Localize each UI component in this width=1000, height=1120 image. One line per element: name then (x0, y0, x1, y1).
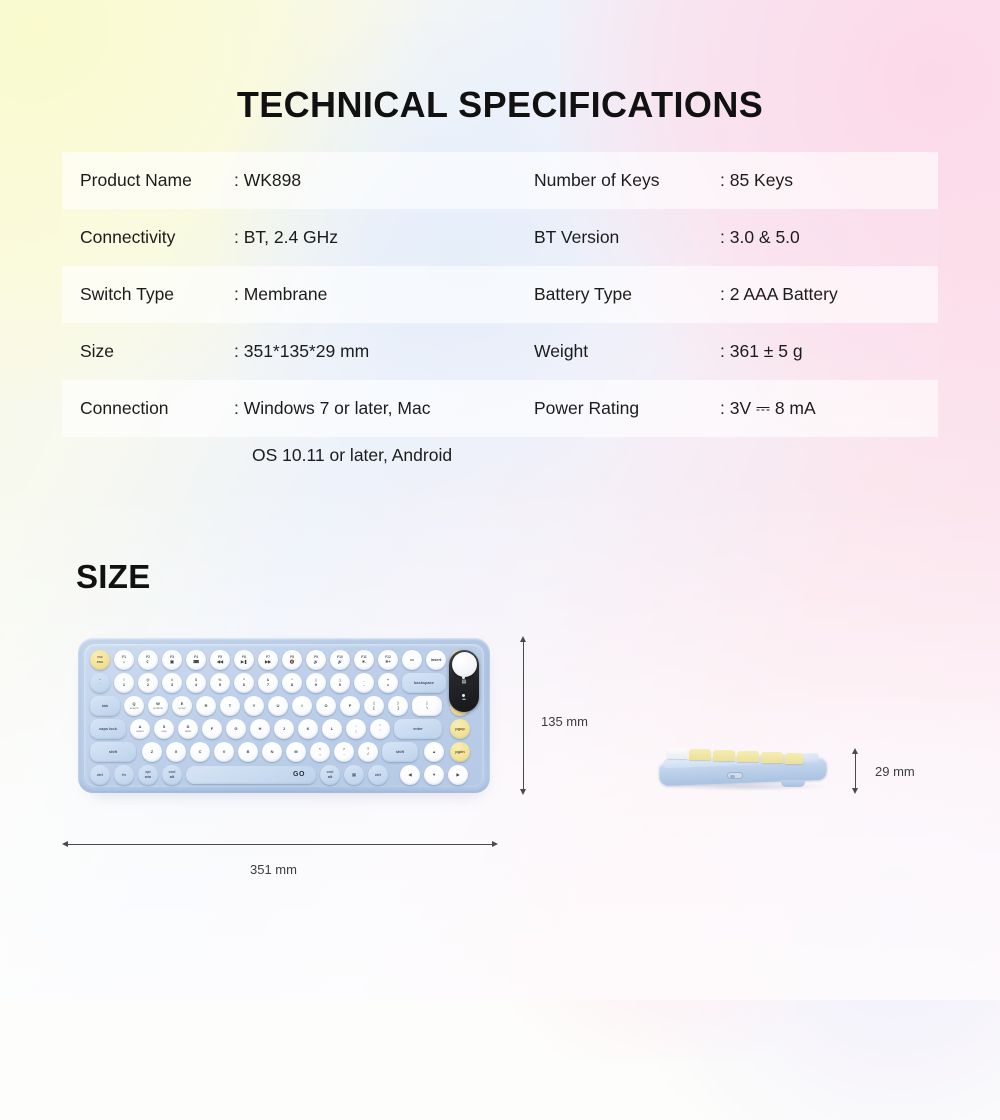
keyboard-key-[interactable]: F11☀- (354, 650, 374, 670)
keyboard-key-d[interactable]: Ddesk (178, 719, 198, 739)
key-legend: ◀◀ (217, 660, 223, 664)
keyboard-key-[interactable]: >. (334, 742, 354, 762)
key-top-legend: F1 (122, 656, 126, 659)
keyboard-key-1[interactable]: !1 (114, 673, 134, 693)
spec-value-left: : WK898 (234, 170, 534, 191)
key-sub-legend: emoji (179, 707, 186, 710)
key-legend: ☀+ (385, 660, 391, 664)
key-legend: G (234, 727, 237, 731)
key-top-legend: F10 (337, 656, 343, 659)
product-spec-page: TECHNICAL SPECIFICATIONS Product Name: W… (0, 0, 1000, 1000)
keyboard-body: escescF1☼F2☾F3▣F4⌨F5◀◀F6▶❚F7▶▶F8🔇F9🔉F10🔊… (78, 638, 490, 793)
keyboard-key-[interactable]: F4⌨ (186, 650, 206, 670)
key-legend: . (343, 752, 344, 756)
key-legend: P (349, 704, 352, 708)
key-legend: ' (380, 729, 381, 733)
key-top-legend: cmd (169, 771, 176, 774)
key-legend: ▼ (432, 773, 436, 777)
keyboard-key-x[interactable]: X (166, 742, 186, 762)
spec-value-left: : Windows 7 or later, Mac (234, 398, 534, 419)
key-legend: ; (355, 729, 356, 733)
keyboard-key-ctrl[interactable]: ctrl (368, 765, 388, 785)
keyboard-key-t[interactable]: T (220, 696, 240, 716)
key-legend: ▶ (457, 773, 460, 777)
keyboard-key-2[interactable]: @2 (138, 673, 158, 693)
keyboard-key-pgdn[interactable]: pgdn (450, 742, 470, 762)
key-legend: I (301, 704, 302, 708)
key-top-legend: # (171, 679, 173, 682)
key-top-legend: ^ (243, 679, 245, 682)
dial-pod: ▤ •• (449, 650, 479, 712)
key-sub-legend: window (153, 707, 163, 710)
key-legend: 🔉 (314, 660, 319, 664)
key-top-legend: F8 (290, 656, 294, 659)
key-top-legend: + (387, 679, 389, 682)
key-top-legend: F7 (266, 656, 270, 659)
keyboard-key-5[interactable]: %5 (210, 673, 230, 693)
key-legend: ☀- (362, 660, 367, 664)
key-legend: caps lock (99, 727, 117, 731)
key-top-legend: esc (97, 656, 103, 659)
keyboard-key-go[interactable]: GO (186, 766, 316, 784)
key-top-legend: F3 (170, 656, 174, 659)
keyboard-key-[interactable]: |\ (412, 696, 442, 716)
keyboard-key-[interactable]: F9🔉 (306, 650, 326, 670)
keyboard-key-9[interactable]: (9 (306, 673, 326, 693)
keyboard-key-win[interactable]: optwin (138, 765, 158, 785)
thickness-arrow-bottom (852, 788, 858, 794)
keyboard-key-[interactable]: :; (346, 719, 366, 739)
key-top-legend: cmd (327, 771, 334, 774)
key-legend: ▶▶ (265, 660, 271, 664)
key-legend: enter (413, 727, 423, 731)
key-top-legend: & (267, 679, 269, 682)
side-view-power-switch-icon (727, 772, 743, 779)
keyboard-key-[interactable]: "' (370, 719, 390, 739)
thickness-arrow-top (852, 748, 858, 754)
spec-continuation-text: OS 10.11 or later, Android (234, 445, 452, 466)
key-top-legend: | (427, 702, 428, 705)
key-top-legend: @ (146, 679, 149, 682)
volume-dial-icon (452, 652, 477, 677)
key-legend: ▲ (432, 750, 436, 754)
keyboard-key-b[interactable]: B (238, 742, 258, 762)
key-sub-legend: search (130, 707, 139, 710)
side-view-keycap (785, 753, 803, 764)
side-view-keycap (667, 748, 687, 759)
key-legend: alt (170, 775, 175, 779)
key-top-legend: opt (145, 771, 150, 774)
keyboard-key-y[interactable]: Y (244, 696, 264, 716)
key-legend: ctrl (97, 773, 103, 777)
height-arrow-top (520, 636, 526, 642)
keyboard-key-[interactable]: F8🔇 (282, 650, 302, 670)
keyboard-key-shift[interactable]: shift (382, 742, 418, 762)
key-legend: ⌨ (193, 660, 199, 664)
key-legend: Y (253, 704, 256, 708)
key-legend: 9 (315, 683, 317, 687)
key-legend: Z (151, 750, 153, 754)
key-legend: K (307, 727, 310, 731)
spec-value-right: : 85 Keys (720, 170, 938, 191)
keyboard-key-[interactable]: ▼ (424, 765, 444, 785)
keyboard-key-[interactable]: F1☼ (114, 650, 134, 670)
keyboard-key-6[interactable]: ^6 (234, 673, 254, 693)
spec-label-right: BT Version (534, 227, 720, 248)
keyboard-key-[interactable]: ▤ (344, 765, 364, 785)
key-top-legend: : (355, 725, 356, 728)
key-legend: 6 (243, 683, 245, 687)
key-legend: / (367, 752, 368, 756)
key-legend: H (259, 727, 262, 731)
keyboard-key-[interactable]: ▲ (424, 742, 444, 762)
keyboard-key-fn[interactable]: fn (114, 765, 134, 785)
keyboard-key-4[interactable]: $4 (186, 673, 206, 693)
keyboard-key-j[interactable]: J (274, 719, 294, 739)
keyboard-key-[interactable]: F3▣ (162, 650, 182, 670)
key-top-legend: $ (195, 679, 197, 682)
keyboard-key-alt[interactable]: cmdalt (162, 765, 182, 785)
key-legend: = (387, 683, 389, 687)
keyboard-key-l[interactable]: L (322, 719, 342, 739)
side-view-foot (781, 780, 805, 787)
key-top-legend: F6 (242, 656, 246, 659)
key-legend: insert (431, 658, 442, 662)
thickness-dimension-line (855, 753, 856, 788)
key-legend: N (271, 750, 274, 754)
key-legend: fn (122, 773, 126, 777)
key-sub-legend: desk (185, 730, 191, 733)
spec-label-right: Number of Keys (534, 170, 720, 191)
size-section-heading: SIZE (76, 558, 151, 596)
keyboard-key-tab[interactable]: tab (90, 696, 120, 716)
key-legend: ctrl (375, 773, 381, 777)
spec-label-right: Weight (534, 341, 720, 362)
keyboard-key-p[interactable]: P (340, 696, 360, 716)
key-top-legend: ( (315, 679, 316, 682)
keyboard-key-[interactable]: F2☾ (138, 650, 158, 670)
key-legend: ☼ (122, 660, 126, 664)
keyboard-top-view: escescF1☼F2☾F3▣F4⌨F5◀◀F6▶❚F7▶▶F8🔇F9🔉F10🔊… (78, 638, 490, 793)
keyboard-key-[interactable]: F7▶▶ (258, 650, 278, 670)
side-view-keycap (737, 751, 759, 762)
key-legend: J (283, 727, 285, 731)
key-legend: 🔊 (338, 660, 343, 664)
key-top-legend: F9 (314, 656, 318, 659)
spec-row: Connectivity: BT, 2.4 GHzBT Version: 3.0… (62, 209, 938, 266)
key-legend: 0 (339, 683, 341, 687)
keyboard-key-[interactable]: ▭ (402, 650, 422, 670)
key-legend: 7 (267, 683, 269, 687)
key-legend: X (175, 750, 178, 754)
spec-value-right: : 3V ⎓ 8 mA (720, 398, 938, 419)
key-legend: ▣ (170, 660, 174, 664)
keyboard-key-capslock[interactable]: caps lock (90, 719, 126, 739)
key-legend: O (324, 704, 327, 708)
spec-label-left: Product Name (62, 170, 234, 191)
key-top-legend: } (397, 702, 398, 705)
keyboard-key-ctrl[interactable]: ctrl (90, 765, 110, 785)
spec-row: Switch Type: MembraneBattery Type: 2 AAA… (62, 266, 938, 323)
keyboard-key-h[interactable]: H (250, 719, 270, 739)
spec-label-left: Switch Type (62, 284, 234, 305)
height-dimension-label: 135 mm (541, 714, 588, 729)
page-title: TECHNICAL SPECIFICATIONS (0, 84, 1000, 126)
key-top-legend: % (219, 679, 222, 682)
key-legend: U (277, 704, 280, 708)
width-dimension-line (68, 844, 492, 845)
keyboard-key-z[interactable]: Z (142, 742, 162, 762)
key-legend: V (223, 750, 226, 754)
key-top-legend: _ (363, 679, 365, 682)
width-arrow-left (62, 841, 68, 847)
keyboard-key-[interactable]: F5◀◀ (210, 650, 230, 670)
keyboard-key-insert[interactable]: insert (426, 650, 446, 670)
key-legend: L (331, 727, 333, 731)
keyboard-key-[interactable]: F6▶❚ (234, 650, 254, 670)
side-view-keycap (713, 750, 735, 761)
keyboard-key-shift[interactable]: shift (90, 742, 136, 762)
keyboard-key-alt[interactable]: cmdalt (320, 765, 340, 785)
keyboard-key-c[interactable]: C (190, 742, 210, 762)
keyboard-key-q[interactable]: Qsearch (124, 696, 144, 716)
key-legend: 4 (195, 683, 197, 687)
key-legend: backspace (414, 681, 434, 685)
keyboard-key-[interactable]: ?/ (358, 742, 378, 762)
key-legend: esc (97, 660, 104, 664)
spec-label-right: Battery Type (534, 284, 720, 305)
keyboard-key-[interactable]: += (378, 673, 398, 693)
key-top-legend: " (379, 725, 381, 728)
key-legend: ▭ (410, 658, 414, 662)
key-top-legend: ! (123, 679, 124, 682)
keyboard-key-i[interactable]: I (292, 696, 312, 716)
key-sub-legend: select (136, 730, 144, 733)
key-legend: C (199, 750, 202, 754)
specifications-table: Product Name: WK898Number of Keys: 85 Ke… (62, 152, 938, 499)
keyboard-key-f[interactable]: F (202, 719, 222, 739)
keyboard-key-[interactable]: ◀ (400, 765, 420, 785)
spec-row-continuation: OS 10.11 or later, Android (62, 437, 938, 499)
keyboard-key-g[interactable]: G (226, 719, 246, 739)
spec-label-right: Power Rating (534, 398, 720, 419)
key-legend: - (363, 683, 364, 687)
keyboard-key-backspace[interactable]: backspace (402, 673, 446, 693)
keyboard-key-[interactable]: ▶ (448, 765, 468, 785)
spec-row: Connection: Windows 7 or later, MacPower… (62, 380, 938, 437)
keyboard-key-7[interactable]: &7 (258, 673, 278, 693)
keyboard-key-0[interactable]: )0 (330, 673, 350, 693)
status-dot-upper (462, 676, 465, 679)
keyboard-key-r[interactable]: R (196, 696, 216, 716)
key-top-legend: F11 (361, 656, 367, 659)
key-legend: T (229, 704, 231, 708)
keyboard-key-[interactable]: {[ (364, 696, 384, 716)
keyboard-key-u[interactable]: U (268, 696, 288, 716)
keyboard-key-k[interactable]: K (298, 719, 318, 739)
key-legend: pgdn (455, 750, 465, 754)
key-legend: shift (109, 750, 117, 754)
key-legend: 2 (147, 683, 149, 687)
key-top-legend: < (319, 748, 321, 751)
keyboard-key-[interactable]: <, (310, 742, 330, 762)
width-arrow-right (492, 841, 498, 847)
height-dimension-line (523, 641, 524, 789)
key-legend: ☾ (146, 660, 150, 664)
key-top-legend: > (343, 748, 345, 751)
spec-row: Size: 351*135*29 mmWeight: 361 ± 5 g (62, 323, 938, 380)
keyboard-key-pgup[interactable]: pgup (450, 719, 470, 739)
key-legend: ` (99, 683, 100, 687)
keyboard-key-enter[interactable]: enter (394, 719, 442, 739)
spec-row: Product Name: WK898Number of Keys: 85 Ke… (62, 152, 938, 209)
side-view-keycap (761, 752, 783, 763)
height-arrow-bottom (520, 789, 526, 795)
key-legend: F (211, 727, 213, 731)
key-legend: alt (328, 775, 333, 779)
keyboard-key-[interactable]: }] (388, 696, 408, 716)
battery-indicator-icon: ▤ (449, 680, 479, 685)
spec-label-left: Size (62, 341, 234, 362)
key-legend: ◀ (409, 773, 412, 777)
keyboard-key-n[interactable]: N (262, 742, 282, 762)
key-legend: 3 (171, 683, 173, 687)
keyboard-key-s[interactable]: Ssnip (154, 719, 174, 739)
key-top-legend: ? (367, 748, 369, 751)
keyboard-key-v[interactable]: V (214, 742, 234, 762)
keyboard-key-3[interactable]: #3 (162, 673, 182, 693)
spec-label-left: Connectivity (62, 227, 234, 248)
spec-value-right: : 2 AAA Battery (720, 284, 938, 305)
keyboard-key-[interactable]: F12☀+ (378, 650, 398, 670)
keyboard-side-view (655, 742, 835, 797)
key-legend: 5 (219, 683, 221, 687)
keyboard-key-[interactable]: F10🔊 (330, 650, 350, 670)
key-legend: GO (293, 771, 305, 778)
key-legend: , (319, 752, 320, 756)
key-top-legend: F5 (218, 656, 222, 659)
key-legend: 🔇 (290, 660, 295, 664)
width-dimension-label: 351 mm (250, 862, 297, 877)
keyboard-key-[interactable]: _- (354, 673, 374, 693)
key-top-legend: F2 (146, 656, 150, 659)
key-legend: tab (102, 704, 108, 708)
key-legend: pgup (455, 727, 465, 731)
key-legend: ▶❚ (241, 660, 247, 664)
key-legend: ▤ (352, 773, 356, 777)
spec-label-left: Connection (62, 398, 234, 419)
key-legend: [ (373, 706, 374, 710)
keyboard-key-e[interactable]: Eemoji (172, 696, 192, 716)
keyboard-key-m[interactable]: M (286, 742, 306, 762)
keyboard-key-a[interactable]: Aselect (130, 719, 150, 739)
key-top-legend: * (291, 679, 292, 682)
key-top-legend: F12 (385, 656, 391, 659)
key-legend: B (247, 750, 250, 754)
key-legend: shift (396, 750, 404, 754)
key-legend: \ (426, 706, 427, 710)
key-legend: ] (397, 706, 398, 710)
keyboard-key-w[interactable]: Wwindow (148, 696, 168, 716)
key-top-legend: F4 (194, 656, 198, 659)
side-view-keycap (689, 749, 711, 760)
spec-value-left: : Membrane (234, 284, 534, 305)
key-legend: R (205, 704, 208, 708)
keyboard-key-esc[interactable]: escesc (90, 650, 110, 670)
spec-value-right: : 3.0 & 5.0 (720, 227, 938, 248)
key-top-legend: ~ (99, 679, 101, 682)
spec-value-left: : 351*135*29 mm (234, 341, 534, 362)
key-legend: 1 (123, 683, 125, 687)
spec-value-right: : 361 ± 5 g (720, 341, 938, 362)
thickness-dimension-label: 29 mm (875, 764, 915, 779)
keyboard-key-[interactable]: ~` (90, 673, 110, 693)
key-top-legend: { (373, 702, 374, 705)
keyboard-key-8[interactable]: *8 (282, 673, 302, 693)
key-legend: M (294, 750, 297, 754)
bluetooth-indicator-icon: •• (449, 698, 479, 703)
spec-value-left: : BT, 2.4 GHz (234, 227, 534, 248)
key-legend: 8 (291, 683, 293, 687)
key-legend: win (145, 775, 151, 779)
key-top-legend: ) (339, 679, 340, 682)
key-sub-legend: snip (161, 730, 166, 733)
keyboard-key-o[interactable]: O (316, 696, 336, 716)
